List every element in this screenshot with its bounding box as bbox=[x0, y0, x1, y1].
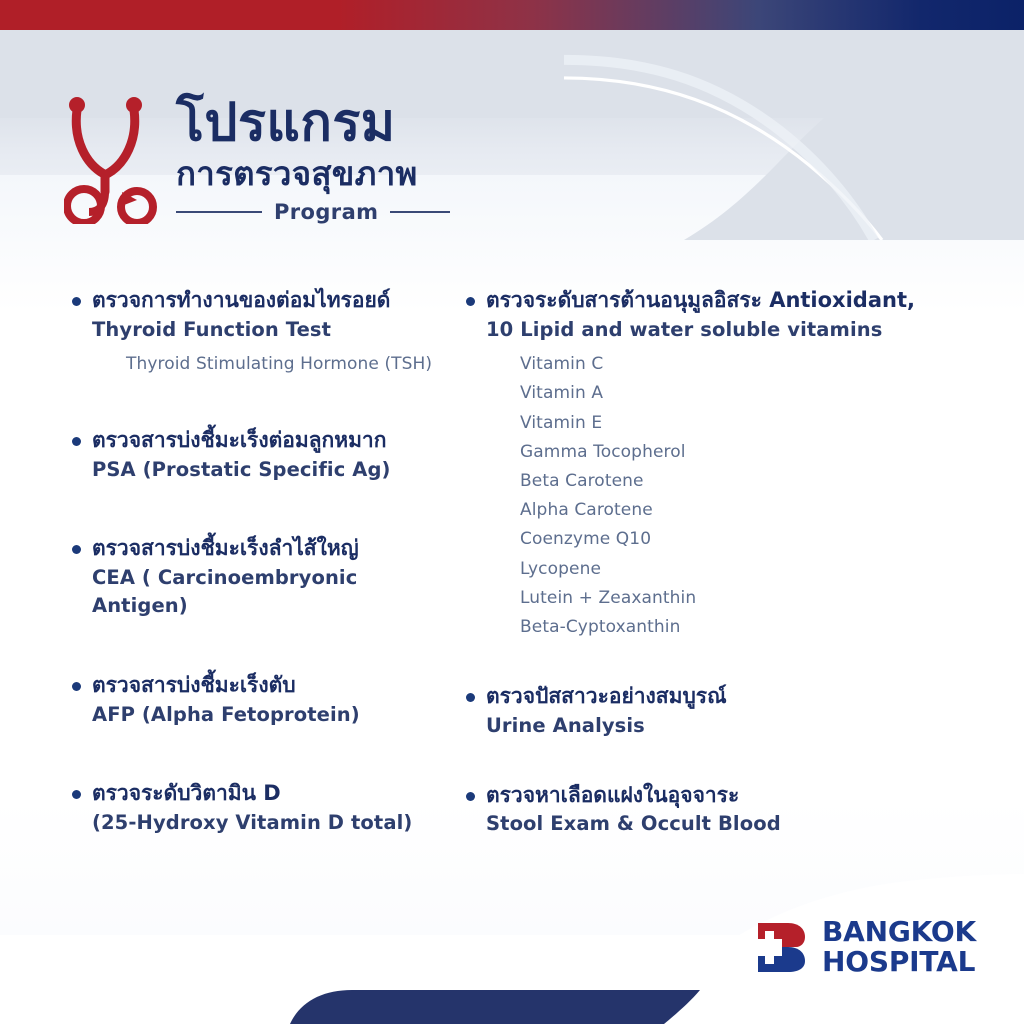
bullet-icon bbox=[466, 693, 475, 702]
right-column: ตรวจระดับสารต้านอนุมูลอิสระ Antioxidant,… bbox=[448, 286, 948, 839]
brand-name-line1: BANGKOK bbox=[822, 918, 976, 946]
test-item: ตรวจการทำงานของต่อมไทรอยด์Thyroid Functi… bbox=[70, 286, 448, 379]
test-name-english: (25-Hydroxy Vitamin D total) bbox=[92, 809, 448, 837]
test-item: ตรวจสารบ่งชี้มะเร็งลำไส้ใหญ่CEA ( Carcin… bbox=[70, 534, 448, 620]
bangkok-hospital-b-cross-logo bbox=[754, 919, 810, 975]
program-title-thai: โปรแกรม bbox=[176, 96, 450, 151]
left-column: ตรวจการทำงานของต่อมไทรอยด์Thyroid Functi… bbox=[0, 286, 448, 839]
test-name-english: 10 Lipid and water soluble vitamins bbox=[486, 316, 948, 344]
test-item: ตรวจหาเลือดแฝงในอุจจาระStool Exam & Occu… bbox=[464, 781, 948, 839]
program-label: Program bbox=[274, 200, 378, 224]
test-name-thai: ตรวจปัสสาวะอย่างสมบูรณ์ bbox=[486, 682, 948, 712]
test-name-thai: ตรวจการทำงานของต่อมไทรอยด์ bbox=[92, 286, 448, 316]
bullet-icon bbox=[72, 682, 81, 691]
bullet-icon bbox=[72, 790, 81, 799]
program-label-row: Program bbox=[176, 200, 450, 224]
test-name-thai: ตรวจหาเลือดแฝงในอุจจาระ bbox=[486, 781, 948, 811]
top-right-swoosh-decoration bbox=[564, 30, 1024, 240]
test-name-thai: ตรวจระดับวิตามิน D bbox=[92, 779, 448, 809]
test-name-thai: ตรวจสารบ่งชี้มะเร็งต่อมลูกหมาก bbox=[92, 426, 448, 456]
test-sub-item: Thyroid Stimulating Hormone (TSH) bbox=[126, 350, 448, 379]
divider-line-left bbox=[176, 211, 262, 213]
test-name-english: Stool Exam & Occult Blood bbox=[486, 810, 948, 838]
test-item: ตรวจระดับวิตามิน D(25-Hydroxy Vitamin D … bbox=[70, 779, 448, 837]
test-name-english: AFP (Alpha Fetoprotein) bbox=[92, 701, 448, 729]
test-name-english: PSA (Prostatic Specific Ag) bbox=[92, 456, 448, 484]
program-subtitle-thai: การตรวจสุขภาพ bbox=[176, 153, 450, 194]
bangkok-hospital-logo: BANGKOK HOSPITAL bbox=[754, 918, 976, 976]
stethoscope-icon bbox=[64, 88, 160, 224]
test-item: ตรวจสารบ่งชี้มะเร็งตับAFP (Alpha Fetopro… bbox=[70, 671, 448, 729]
divider-line-right bbox=[390, 211, 450, 213]
test-list-columns: ตรวจการทำงานของต่อมไทรอยด์Thyroid Functi… bbox=[0, 286, 1024, 839]
test-sub-item: Alpha Carotene bbox=[520, 496, 948, 525]
test-item: ตรวจสารบ่งชี้มะเร็งต่อมลูกหมากPSA (Prost… bbox=[70, 426, 448, 484]
program-header: โปรแกรม การตรวจสุขภาพ Program bbox=[64, 88, 450, 224]
brand-name-line2: HOSPITAL bbox=[822, 948, 976, 976]
bullet-icon bbox=[466, 297, 475, 306]
test-name-english: Urine Analysis bbox=[486, 712, 948, 740]
test-name-english: Thyroid Function Test bbox=[92, 316, 448, 344]
test-item: ตรวจระดับสารต้านอนุมูลอิสระ Antioxidant,… bbox=[464, 286, 948, 642]
test-sub-item: Beta-Cyptoxanthin bbox=[520, 613, 948, 642]
test-item: ตรวจปัสสาวะอย่างสมบูรณ์Urine Analysis bbox=[464, 682, 948, 740]
test-sub-list: Vitamin CVitamin AVitamin EGamma Tocophe… bbox=[486, 350, 948, 642]
bullet-icon bbox=[466, 792, 475, 801]
bullet-icon bbox=[72, 545, 81, 554]
test-sub-item: Vitamin E bbox=[520, 409, 948, 438]
test-sub-item: Lutein + Zeaxanthin bbox=[520, 584, 948, 613]
top-gradient-bar bbox=[0, 0, 1024, 30]
test-sub-list: Thyroid Stimulating Hormone (TSH) bbox=[92, 350, 448, 379]
test-name-thai: ตรวจระดับสารต้านอนุมูลอิสระ Antioxidant, bbox=[486, 286, 948, 316]
test-sub-item: Vitamin A bbox=[520, 379, 948, 408]
test-sub-item: Beta Carotene bbox=[520, 467, 948, 496]
test-name-thai: ตรวจสารบ่งชี้มะเร็งตับ bbox=[92, 671, 448, 701]
bullet-icon bbox=[72, 297, 81, 306]
bullet-icon bbox=[72, 437, 81, 446]
test-sub-item: Gamma Tocopherol bbox=[520, 438, 948, 467]
test-sub-item: Vitamin C bbox=[520, 350, 948, 379]
test-name-thai: ตรวจสารบ่งชี้มะเร็งลำไส้ใหญ่ bbox=[92, 534, 448, 564]
test-sub-item: Lycopene bbox=[520, 555, 948, 584]
test-name-english: CEA ( Carcinoembryonic Antigen) bbox=[92, 564, 448, 621]
test-sub-item: Coenzyme Q10 bbox=[520, 525, 948, 554]
infographic-page: โปรแกรม การตรวจสุขภาพ Program ตรวจการทำง… bbox=[0, 0, 1024, 1024]
